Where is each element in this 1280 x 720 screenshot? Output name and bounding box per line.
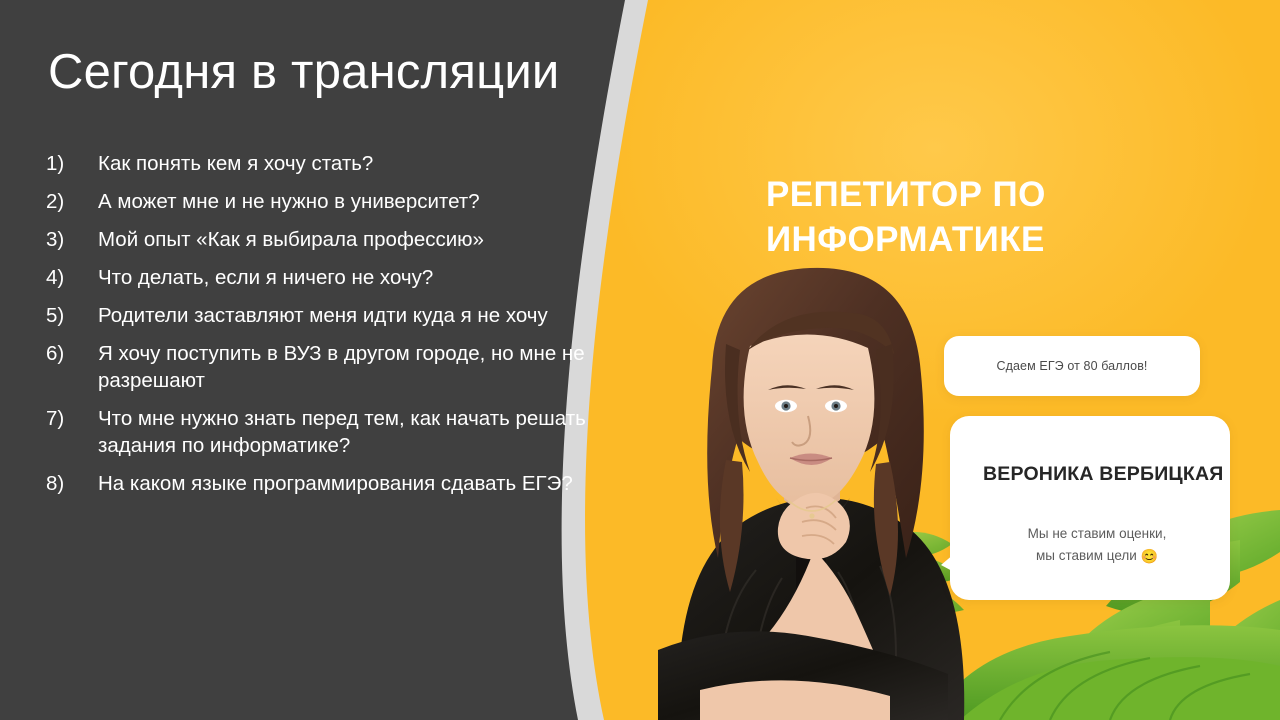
list-item: 6) Я хочу поступить в ВУЗ в другом город… xyxy=(46,340,586,394)
list-item-label: Что делать, если я ничего не хочу? xyxy=(98,264,586,291)
list-item-number: 7) xyxy=(46,405,98,432)
list-item-number: 2) xyxy=(46,188,98,215)
presenter-name: ВЕРОНИКА ВЕРБИЦКАЯ xyxy=(983,462,1223,487)
list-item-label: Мой опыт «Как я выбирала профессию» xyxy=(98,226,586,253)
list-item-number: 8) xyxy=(46,470,98,497)
list-item: 3) Мой опыт «Как я выбирала профессию» xyxy=(46,226,586,253)
presenter-motto: Мы не ставим оценки, мы ставим цели 😊 xyxy=(977,523,1217,567)
list-item-number: 4) xyxy=(46,264,98,291)
presentation-slide: Сегодня в трансляции 1) Как понять кем я… xyxy=(0,0,1280,720)
tagline-card: Сдаем ЕГЭ от 80 баллов! xyxy=(944,336,1200,396)
list-item-number: 1) xyxy=(46,150,98,177)
list-item: 5) Родители заставляют меня идти куда я … xyxy=(46,302,586,329)
list-item-label: А может мне и не нужно в университет? xyxy=(98,188,586,215)
list-item: 1) Как понять кем я хочу стать? xyxy=(46,150,586,177)
list-item-label: На каком языке программирования сдавать … xyxy=(98,470,586,497)
list-item-label: Я хочу поступить в ВУЗ в другом городе, … xyxy=(98,340,586,394)
list-item: 7) Что мне нужно знать перед тем, как на… xyxy=(46,405,586,459)
list-item: 2) А может мне и не нужно в университет? xyxy=(46,188,586,215)
agenda-list: 1) Как понять кем я хочу стать? 2) А мож… xyxy=(46,150,586,508)
motto-line-1: Мы не ставим оценки, xyxy=(1028,526,1167,541)
tagline-text: Сдаем ЕГЭ от 80 баллов! xyxy=(996,359,1147,373)
list-item-label: Родители заставляют меня идти куда я не … xyxy=(98,302,586,329)
speech-bubble-tail xyxy=(941,554,954,572)
list-item: 4) Что делать, если я ничего не хочу? xyxy=(46,264,586,291)
presenter-card: ВЕРОНИКА ВЕРБИЦКАЯ Мы не ставим оценки, … xyxy=(950,416,1230,600)
smiley-icon: 😊 xyxy=(1141,548,1158,564)
list-item-number: 3) xyxy=(46,226,98,253)
list-item-label: Что мне нужно знать перед тем, как начат… xyxy=(98,405,586,459)
motto-line-2: мы ставим цели xyxy=(1036,548,1137,563)
list-item: 8) На каком языке программирования сдава… xyxy=(46,470,586,497)
promo-title: РЕПЕТИТОР ПО ИНФОРМАТИКЕ xyxy=(766,172,1186,262)
page-title: Сегодня в трансляции xyxy=(48,44,560,100)
list-item-number: 6) xyxy=(46,340,98,367)
list-item-number: 5) xyxy=(46,302,98,329)
list-item-label: Как понять кем я хочу стать? xyxy=(98,150,586,177)
